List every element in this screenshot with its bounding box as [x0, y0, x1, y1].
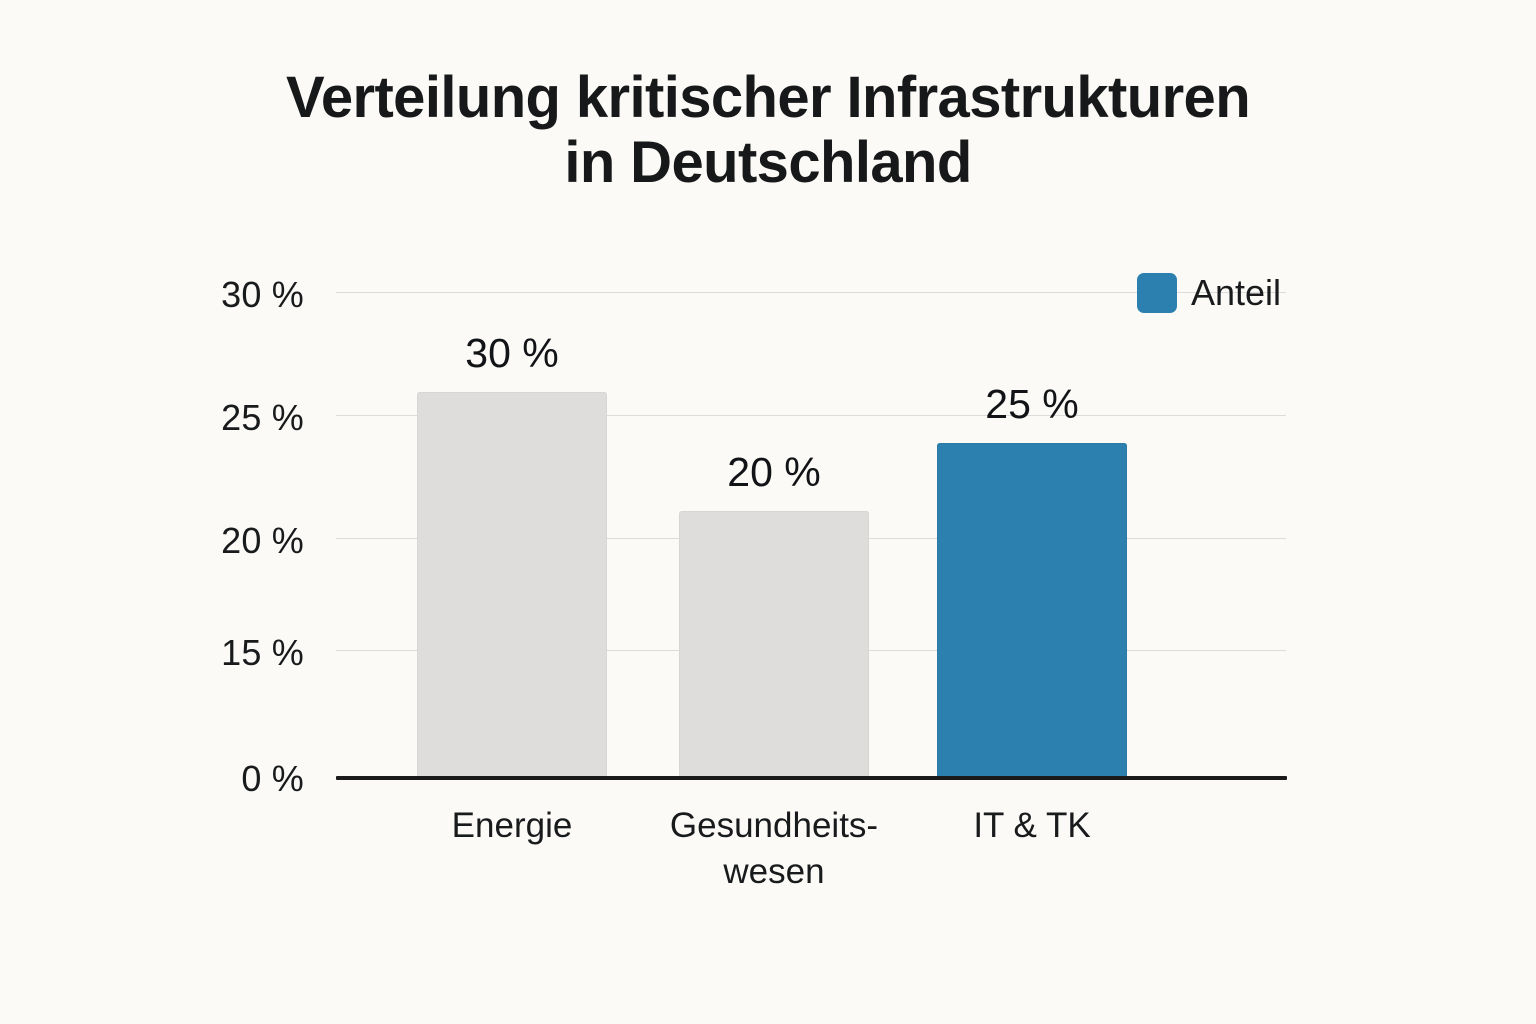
x-tick-label-gesundheitswesen-line-2: wesen	[624, 849, 924, 895]
legend-label-anteil: Anteil	[1191, 272, 1281, 314]
y-tick-label-15: 15 %	[104, 632, 304, 674]
x-tick-label-it-tk: IT & TK	[882, 803, 1182, 849]
y-tick-label-0: 0 %	[104, 758, 304, 800]
y-tick-label-30: 30 %	[104, 274, 304, 316]
bar-value-label-energie: 30 %	[362, 330, 662, 377]
bar-value-label-it-tk: 25 %	[882, 381, 1182, 428]
y-tick-label-25: 25 %	[104, 397, 304, 439]
legend-swatch-anteil	[1137, 273, 1177, 313]
bar-it-tk[interactable]	[937, 443, 1127, 778]
x-tick-label-gesundheitswesen-line-1: Gesundheits-	[624, 803, 924, 849]
x-tick-label-gesundheitswesen: Gesundheits- wesen	[624, 803, 924, 895]
chart-container: Verteilung kritischer Infrastrukturen in…	[0, 0, 1536, 1024]
x-tick-label-energie: Energie	[362, 803, 662, 849]
plot-area: 30 % 25 % 20 % 15 % 0 % 30 % 20 % 25 % E…	[0, 0, 1536, 1024]
x-axis-line	[336, 776, 1287, 780]
bar-energie[interactable]	[417, 392, 607, 778]
chart-legend[interactable]: Anteil	[1137, 272, 1281, 314]
y-tick-label-20: 20 %	[104, 520, 304, 562]
bar-value-label-gesundheitswesen: 20 %	[624, 449, 924, 496]
x-tick-label-energie-line-1: Energie	[362, 803, 662, 849]
x-tick-label-it-tk-line-1: IT & TK	[882, 803, 1182, 849]
bar-gesundheitswesen[interactable]	[679, 511, 869, 778]
